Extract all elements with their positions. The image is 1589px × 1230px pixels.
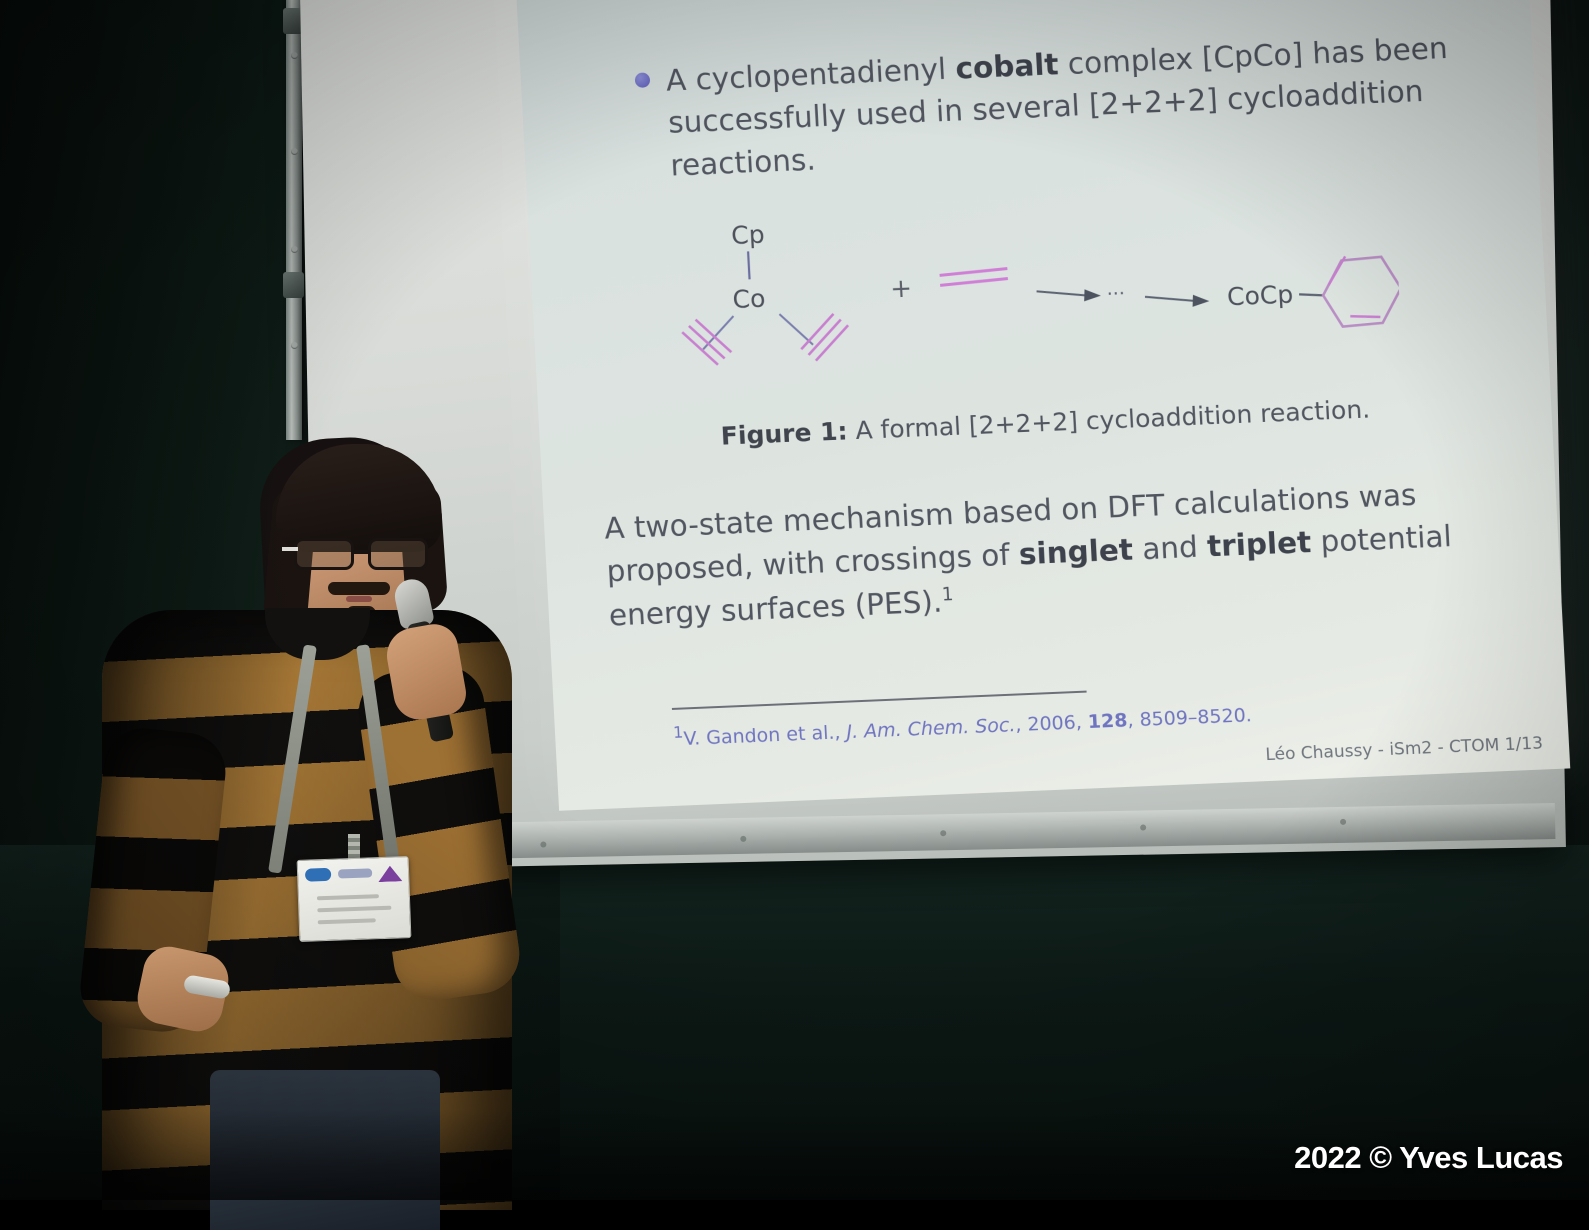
bond-cp-co: [748, 252, 749, 280]
presenter-mouth: [346, 596, 372, 602]
bond-cocp-ring: [1299, 294, 1323, 297]
presenter: [90, 430, 520, 1200]
plus-sign: +: [890, 274, 913, 305]
paragraph-footnote-marker: 1: [941, 584, 954, 605]
bullet-marker-icon: [635, 72, 651, 88]
slide-body: A cyclopentadienyl cobalt complex [CpCo]…: [516, 0, 1561, 640]
rail-bolt: [291, 148, 298, 155]
reaction-arrow-2: [1145, 295, 1210, 310]
projected-slide: Methodology oooooo Target system oooo Co…: [512, 0, 1570, 811]
screen-mount-rail: [286, 0, 302, 440]
glasses-lens-left: [294, 538, 354, 570]
figure-caption-label: Figure 1:: [720, 417, 848, 451]
glasses-icon: [290, 538, 440, 572]
label-cp: Cp: [730, 220, 765, 250]
badge-logo-text: [338, 868, 372, 878]
reaction-scheme-svg: Cp Co +: [674, 191, 1403, 406]
paragraph-bold-singlet: singlet: [1018, 533, 1134, 572]
badge-logo-purple: [378, 865, 403, 882]
footnote-volume: 128: [1087, 709, 1128, 733]
glasses-temple: [282, 547, 298, 551]
chemistry-figure: Cp Co +: [580, 187, 1497, 410]
benzene-ring: [1321, 255, 1403, 328]
glasses-lens-right: [368, 538, 428, 570]
rail-clamp: [283, 272, 304, 298]
footnote-pages: , 8509–8520.: [1127, 704, 1252, 731]
bond-co-alkyne-left: [701, 316, 735, 349]
bullet-text-part-1: A cyclopentadienyl: [665, 52, 956, 98]
badge-text-line: [317, 894, 379, 900]
bullet-item: A cyclopentadienyl cobalt complex [CpCo]…: [572, 26, 1486, 191]
footnote-journal: J. Am. Chem. Soc.: [846, 714, 1016, 743]
copyright-watermark: 2022 © Yves Lucas: [1294, 1140, 1563, 1176]
paragraph-part-2: and: [1132, 530, 1208, 567]
badge-text-line: [318, 918, 376, 924]
free-alkyne: [939, 269, 1008, 286]
bullet-bold-cobalt: cobalt: [955, 47, 1060, 85]
badge-logo-blue: [305, 868, 331, 882]
paragraph-bold-triplet: triplet: [1206, 526, 1312, 564]
label-cocp-product: CoCp: [1226, 280, 1294, 312]
arrow-ellipsis: ···: [1106, 283, 1125, 306]
footnote-authors: V. Gandon et al.,: [683, 721, 847, 750]
badge-text-line: [317, 906, 391, 913]
rail-bolt: [291, 52, 298, 59]
rail-bolt: [291, 342, 298, 349]
slide-paragraph: A two-state mechanism based on DFT calcu…: [595, 470, 1509, 637]
rail-bolt: [291, 246, 298, 253]
alkyne-triple-bond-right: [800, 314, 850, 362]
figure-caption-text: A formal [2+2+2] cycloaddition reaction.: [847, 395, 1371, 446]
glasses-bridge: [354, 550, 371, 554]
reaction-arrow-1: [1037, 289, 1102, 304]
label-co: Co: [732, 284, 766, 314]
slide-footer: Léo Chaussy - iSm2 - CTOM 1/13: [1265, 734, 1544, 766]
bullet-text: A cyclopentadienyl cobalt complex [CpCo]…: [665, 26, 1471, 187]
footnote-marker: 1: [673, 722, 684, 741]
presenter-mustache: [328, 582, 390, 595]
bullet-text-part-2: complex [CpCo] has been successfully use…: [667, 31, 1448, 183]
conference-badge: [297, 856, 412, 942]
footnote-year: , 2006,: [1015, 711, 1089, 736]
